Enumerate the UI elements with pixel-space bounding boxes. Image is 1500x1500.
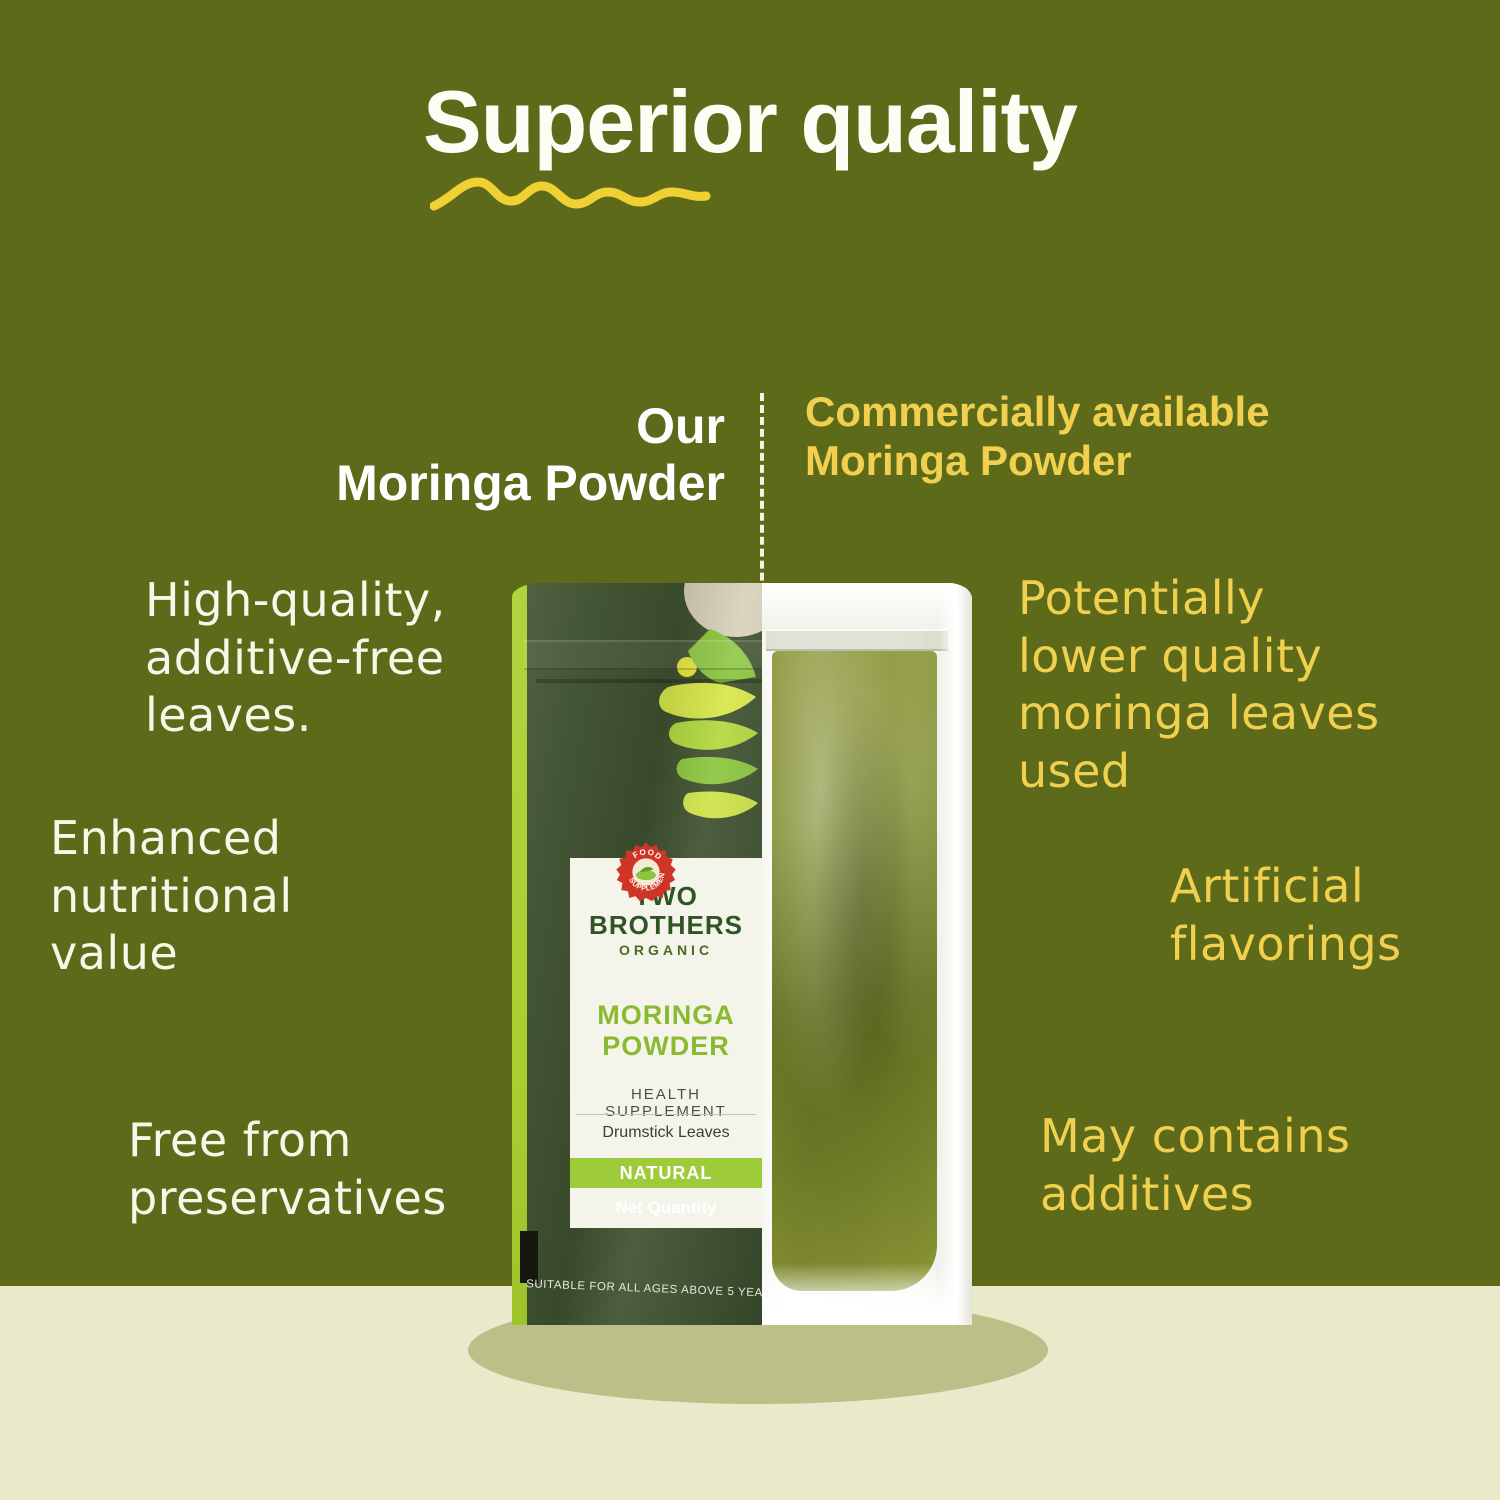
label-subtitle: Drumstick Leaves [570, 1124, 762, 1142]
pouch-zip-line [536, 679, 762, 683]
label-net-quantity: Net Quantity [570, 1198, 762, 1218]
benefit-item-nutrition: Enhanced nutritional value [50, 810, 390, 983]
commercial-pouch-zip [766, 629, 948, 651]
commercial-pouch-edge [938, 583, 972, 1325]
moringa-powder-contents [772, 651, 937, 1291]
drawback-item-quality: Potentially lower quality moringa leaves… [1018, 570, 1408, 800]
benefit-item-preservatives: Free from preservatives [128, 1112, 488, 1227]
our-pouch-half: TWO BROTHERS ORGANIC MORINGA POWDER HEAL… [512, 583, 762, 1325]
column-header-commercial: Commercially available Moringa Powder [805, 388, 1425, 485]
commercial-pouch-half [762, 583, 972, 1325]
label-brand-line2: BROTHERS [570, 911, 762, 940]
infographic-canvas: Superior quality Our Moringa Powder Comm… [0, 0, 1500, 1500]
food-supplement-badge-icon: FOOD SUPPLEMENT [615, 841, 677, 903]
label-natural-banner: NATURAL [570, 1158, 762, 1188]
column-header-our-line1: Our [180, 398, 725, 455]
drawback-item-flavorings: Artificial flavorings [1170, 858, 1470, 973]
pouch-print-mark [520, 1231, 538, 1283]
column-header-our-line2: Moringa Powder [180, 455, 725, 512]
drawback-item-additives: May contains additives [1040, 1108, 1390, 1223]
benefit-item-quality: High-quality, additive-free leaves. [145, 572, 505, 745]
label-product-line1: MORINGA [570, 1000, 762, 1031]
column-header-our: Our Moringa Powder [180, 398, 725, 511]
label-organic: ORGANIC [570, 942, 762, 958]
pouch-zip-seal [524, 640, 762, 670]
page-title: Superior quality [0, 78, 1500, 166]
label-divider-rule [576, 1114, 756, 1115]
squiggle-underline-icon [430, 168, 720, 216]
product-label-card: TWO BROTHERS ORGANIC MORINGA POWDER HEAL… [570, 858, 762, 1228]
product-pouch-split-image: TWO BROTHERS ORGANIC MORINGA POWDER HEAL… [512, 583, 972, 1325]
label-product-line2: POWDER [570, 1031, 762, 1062]
column-header-commercial-line2: Moringa Powder [805, 437, 1425, 486]
column-header-commercial-line1: Commercially available [805, 388, 1425, 437]
label-product-name: MORINGA POWDER [570, 1000, 762, 1063]
